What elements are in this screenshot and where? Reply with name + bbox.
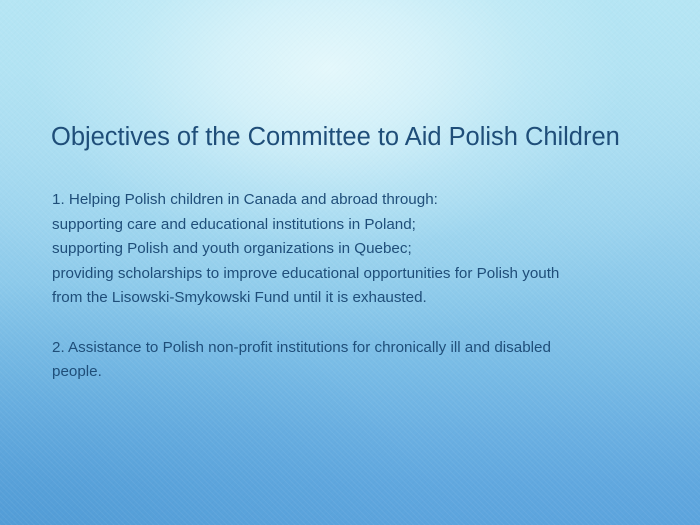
objective-1-paragraph: 1. Helping Polish children in Canada and… <box>52 188 672 311</box>
objective-1-line-1: 1. Helping Polish children in Canada and… <box>52 188 672 213</box>
slide-body: 1. Helping Polish children in Canada and… <box>52 188 672 385</box>
slide-title: Objectives of the Committee to Aid Polis… <box>51 121 671 153</box>
objective-1-line-3: supporting Polish and youth organization… <box>52 237 672 262</box>
paragraph-spacer <box>52 311 672 336</box>
presentation-slide: Objectives of the Committee to Aid Polis… <box>0 0 700 525</box>
objective-2-line-1: 2. Assistance to Polish non-profit insti… <box>52 336 672 361</box>
slide-content: Objectives of the Committee to Aid Polis… <box>0 0 700 525</box>
objective-2-line-2: people. <box>52 360 672 385</box>
objective-1-line-4: providing scholarships to improve educat… <box>52 262 672 287</box>
objective-2-paragraph: 2. Assistance to Polish non-profit insti… <box>52 336 672 385</box>
objective-1-line-5: from the Lisowski-Smykowski Fund until i… <box>52 286 672 311</box>
objective-1-line-2: supporting care and educational institut… <box>52 213 672 238</box>
